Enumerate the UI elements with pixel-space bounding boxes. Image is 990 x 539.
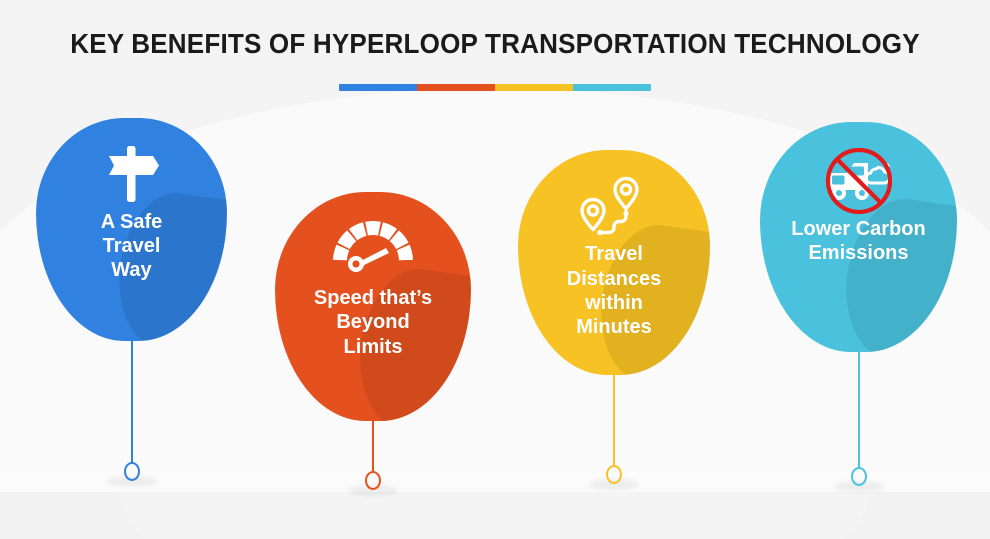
page-title: KEY BENEFITS OF HYPERLOOP TRANSPORTATION… xyxy=(35,28,956,60)
balloon-stem xyxy=(372,417,374,472)
route-pins-icon xyxy=(578,175,650,244)
balloon-label-line: Beyond xyxy=(291,310,456,334)
balloon-label: Speed that’sBeyondLimits xyxy=(291,286,456,359)
balloon-label-line: Minutes xyxy=(533,315,694,339)
balloon-label-line: Distances xyxy=(533,267,694,291)
title-divider-bar xyxy=(339,84,651,91)
divider-segment-1 xyxy=(339,84,417,91)
balloon-label-line: Lower Carbon xyxy=(776,217,942,241)
balloon-label-line: Limits xyxy=(291,335,456,359)
balloon-label-line: within xyxy=(533,291,694,315)
divider-segment-3 xyxy=(495,84,573,91)
balloon-label-line: Way xyxy=(51,258,211,282)
balloon-stem xyxy=(613,371,615,466)
divider-segment-4 xyxy=(573,84,651,91)
balloon-stem xyxy=(858,348,860,468)
background-lower-arc xyxy=(115,470,875,539)
infographic-canvas: KEY BENEFITS OF HYPERLOOP TRANSPORTATION… xyxy=(0,0,990,539)
balloon-label: A SafeTravelWay xyxy=(51,210,211,283)
balloon-label-line: Emissions xyxy=(776,241,942,265)
no-emissions-icon xyxy=(820,148,898,223)
divider-segment-2 xyxy=(417,84,495,91)
balloon-label-line: A Safe xyxy=(51,210,211,234)
balloon-label: TravelDistanceswithinMinutes xyxy=(533,242,694,340)
balloon-label: Lower CarbonEmissions xyxy=(776,217,942,266)
balloon-stem xyxy=(131,337,133,463)
balloon-label-line: Travel xyxy=(51,234,211,258)
balloon-knot-ring[interactable] xyxy=(124,462,140,481)
balloon-knot-ring[interactable] xyxy=(851,467,867,486)
balloon-label-line: Speed that’s xyxy=(291,286,456,310)
signpost-icon xyxy=(103,143,161,210)
balloon-label-line: Travel xyxy=(533,242,694,266)
background-lower-band xyxy=(0,492,990,539)
balloon-knot-ring[interactable] xyxy=(606,465,622,484)
speedometer-icon xyxy=(327,217,419,278)
